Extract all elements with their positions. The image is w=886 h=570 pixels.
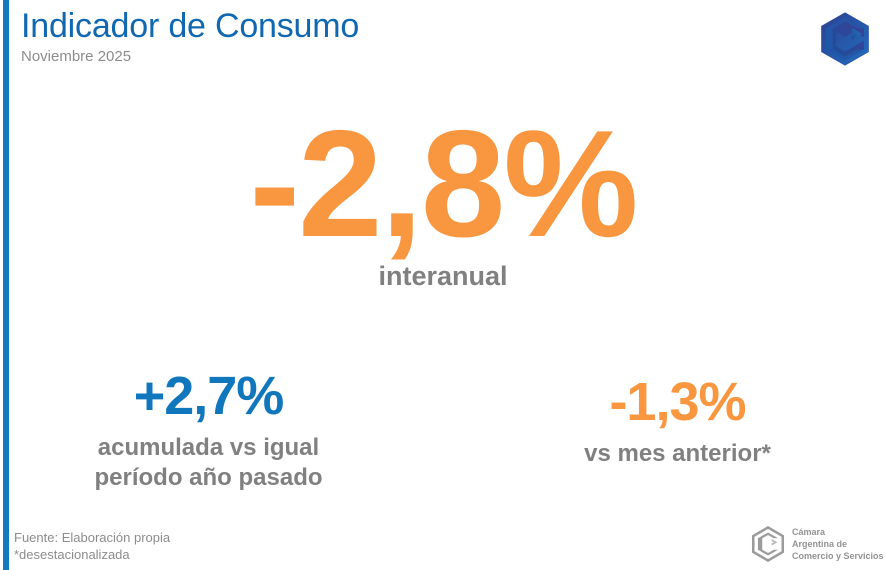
footnote-source: Fuente: Elaboración propia — [14, 529, 170, 547]
footnote: Fuente: Elaboración propia *desestaciona… — [14, 529, 170, 564]
stat-accumulated-label-line1: acumulada vs igual — [0, 433, 417, 463]
stat-accumulated: +2,7% acumulada vs igual período año pas… — [0, 368, 457, 493]
stat-monthly: -1,3% vs mes anterior* — [457, 368, 886, 469]
hero-label: interanual — [0, 262, 886, 292]
hexagon-cac-gray-logo-icon — [750, 526, 786, 562]
organization-logo: Cámara Argentina de Comercio y Servicios — [750, 526, 884, 562]
hexagon-cac-logo-icon — [817, 11, 873, 67]
stat-monthly-value: -1,3% — [469, 374, 886, 431]
organization-name-line1: Cámara — [792, 526, 884, 538]
indicator-slide: Indicador de Consumo Noviembre 2025 — [0, 0, 886, 570]
stat-monthly-label-line1: vs mes anterior* — [469, 439, 886, 469]
page-title: Indicador de Consumo — [21, 8, 359, 45]
stat-accumulated-label: acumulada vs igual período año pasado — [0, 433, 417, 493]
stat-monthly-label: vs mes anterior* — [469, 439, 886, 469]
period-subtitle: Noviembre 2025 — [21, 49, 359, 66]
slide-header: Indicador de Consumo Noviembre 2025 — [21, 8, 359, 66]
hero-value: -2,8% — [0, 108, 886, 260]
stat-accumulated-label-line2: período año pasado — [0, 463, 417, 493]
organization-name-line3: Comercio y Servicios — [792, 550, 884, 562]
organization-name: Cámara Argentina de Comercio y Servicios — [792, 526, 884, 562]
stat-accumulated-value: +2,7% — [0, 368, 417, 425]
footnote-note: *desestacionalizada — [14, 546, 170, 564]
hero-stat: -2,8% interanual — [0, 108, 886, 292]
organization-name-line2: Argentina de — [792, 538, 884, 550]
secondary-stats: +2,7% acumulada vs igual período año pas… — [0, 368, 886, 493]
